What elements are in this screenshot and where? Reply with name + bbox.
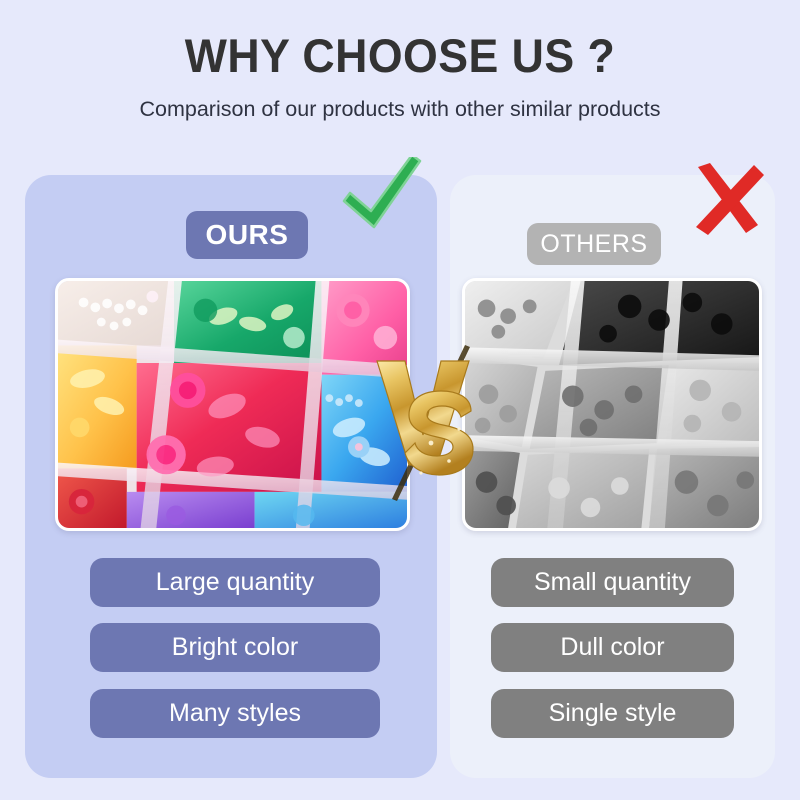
others-feature-pill: Single style [491,689,734,738]
ours-feature-label: Many styles [169,699,301,728]
others-feature-label: Small quantity [534,568,691,597]
ours-feature-pill: Large quantity [90,558,380,607]
page-subtitle: Comparison of our products with other si… [0,83,800,122]
ours-feature-pill: Many styles [90,689,380,738]
others-panel: OTHERS [450,175,775,778]
others-feature-label: Dull color [560,633,664,662]
ours-badge: OURS [186,211,308,259]
header: WHY CHOOSE US ? Comparison of our produc… [0,0,800,122]
ours-feature-label: Bright color [172,633,298,662]
red-cross-icon [688,163,764,239]
comparison-area: OURS [0,175,800,780]
others-product-image [462,278,762,531]
others-feature-pill: Small quantity [491,558,734,607]
others-badge-label: OTHERS [540,230,647,259]
others-feature-pill: Dull color [491,623,734,672]
ours-badge-label: OURS [206,219,289,251]
others-badge: OTHERS [527,223,661,265]
ours-panel: OURS [25,175,437,778]
others-feature-label: Single style [549,699,677,728]
ours-product-image [55,278,410,531]
ours-feature-pill: Bright color [90,623,380,672]
ours-feature-label: Large quantity [156,568,314,597]
page-title: WHY CHOOSE US ? [20,0,780,83]
green-check-icon [338,157,424,237]
